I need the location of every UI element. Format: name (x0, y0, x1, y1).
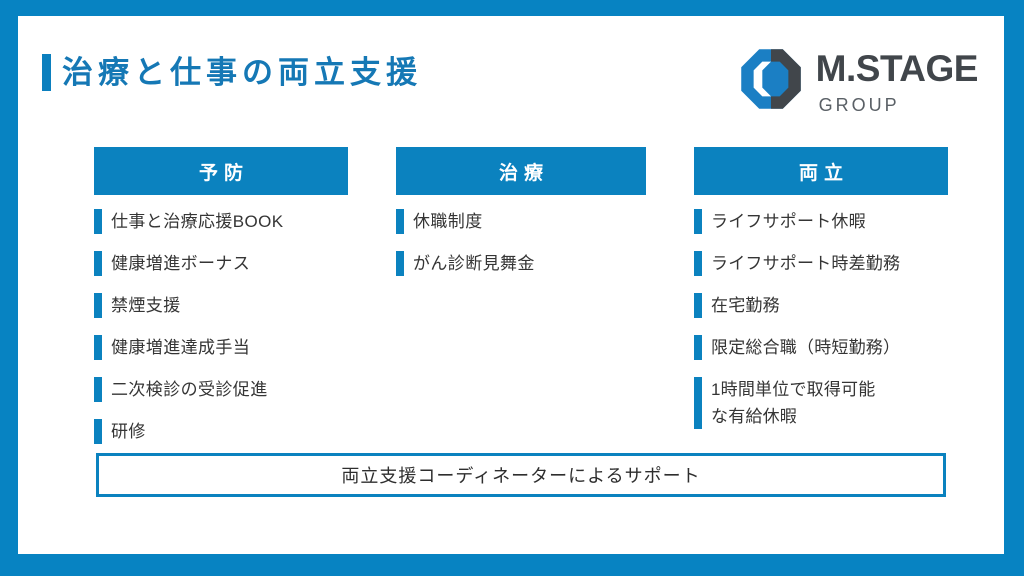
bullet-bar-icon (94, 419, 102, 444)
list-item: 限定総合職（時短勤務） (694, 334, 948, 361)
list-item: 1時間単位で取得可能 な有給休暇 (694, 376, 948, 430)
list-item: 健康増進達成手当 (94, 334, 348, 361)
list-item-label: 禁煙支援 (111, 292, 181, 319)
support-banner-label: 両立支援コーディネーターによるサポート (341, 462, 700, 488)
list-item: 休職制度 (396, 208, 646, 235)
list-item-label: ライフサポート休暇 (711, 208, 866, 235)
brand-logo: M.STAGE GROUP (740, 44, 978, 114)
bullet-bar-icon (396, 209, 404, 234)
bullet-bar-icon (94, 377, 102, 402)
list-item-label: 在宅勤務 (711, 292, 780, 319)
bullet-bar-icon (694, 251, 702, 276)
list-item-label: 休職制度 (413, 208, 483, 235)
column-prevention: 予防 仕事と治療応援BOOK 健康増進ボーナス 禁煙支援 (94, 147, 348, 460)
bullet-bar-icon (694, 209, 702, 234)
list-item-label: 1時間単位で取得可能 な有給休暇 (711, 376, 875, 430)
column-item-list-treatment: 休職制度 がん診断見舞金 (396, 208, 646, 292)
bullet-bar-icon (94, 335, 102, 360)
category-columns: 予防 仕事と治療応援BOOK 健康増進ボーナス 禁煙支援 (94, 147, 948, 460)
list-item: ライフサポート時差勤務 (694, 250, 948, 277)
slide-root: 治療と仕事の両立支援 M.STAGE GROUP 予防 仕事と治療応援BOO (0, 0, 1024, 576)
logo-name: M.STAGE (816, 50, 978, 87)
logo-subtitle: GROUP (819, 96, 900, 114)
list-item: 健康増進ボーナス (94, 250, 348, 277)
bullet-bar-icon (694, 335, 702, 360)
list-item-label: 限定総合職（時短勤務） (711, 334, 900, 361)
list-item-label: がん診断見舞金 (413, 250, 535, 277)
list-item-label: 健康増進達成手当 (111, 334, 250, 361)
list-item-label: 仕事と治療応援BOOK (111, 208, 284, 235)
list-item: 禁煙支援 (94, 292, 348, 319)
list-item-label: ライフサポート時差勤務 (711, 250, 900, 277)
bullet-bar-icon (694, 293, 702, 318)
column-item-list-prevention: 仕事と治療応援BOOK 健康増進ボーナス 禁煙支援 健康増進達成手当 (94, 208, 348, 460)
column-balance: 両立 ライフサポート休暇 ライフサポート時差勤務 在宅勤務 (694, 147, 948, 460)
column-header-prevention: 予防 (94, 147, 348, 195)
list-item: 在宅勤務 (694, 292, 948, 319)
title-text: 治療と仕事の両立支援 (62, 57, 422, 88)
bullet-bar-icon (94, 293, 102, 318)
bullet-bar-icon (396, 251, 404, 276)
column-item-list-balance: ライフサポート休暇 ライフサポート時差勤務 在宅勤務 限定総合職（時短勤務） (694, 208, 948, 445)
logo-wordmark: M.STAGE GROUP (816, 44, 978, 114)
bullet-bar-icon (694, 377, 702, 429)
list-item: 仕事と治療応援BOOK (94, 208, 348, 235)
page-title: 治療と仕事の両立支援 (42, 54, 422, 91)
mstage-octagon-icon (740, 48, 802, 110)
list-item: 研修 (94, 418, 348, 445)
slide-content-area: 治療と仕事の両立支援 M.STAGE GROUP 予防 仕事と治療応援BOO (18, 16, 1004, 554)
bullet-bar-icon (94, 251, 102, 276)
list-item: がん診断見舞金 (396, 250, 646, 277)
list-item-label: 研修 (111, 418, 146, 445)
bullet-bar-icon (94, 209, 102, 234)
list-item-label: 健康増進ボーナス (111, 250, 250, 277)
list-item: ライフサポート休暇 (694, 208, 948, 235)
list-item: 二次検診の受診促進 (94, 376, 348, 403)
column-header-balance: 両立 (694, 147, 948, 195)
support-banner: 両立支援コーディネーターによるサポート (96, 453, 946, 497)
column-treatment: 治療 休職制度 がん診断見舞金 (396, 147, 646, 460)
title-accent-bar (42, 54, 51, 91)
list-item-label: 二次検診の受診促進 (111, 376, 268, 403)
column-header-treatment: 治療 (396, 147, 646, 195)
